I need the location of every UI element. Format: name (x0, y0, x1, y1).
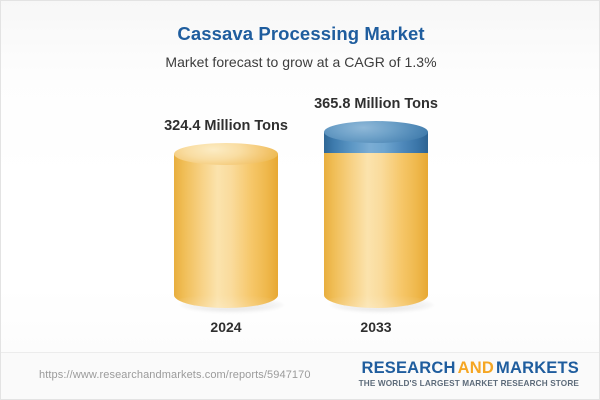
report-url[interactable]: https://www.researchandmarkets.com/repor… (39, 369, 311, 381)
category-label-2033: 2033 (288, 319, 464, 335)
bar-group-2033: 365.8 Million Tons 2033 (324, 1, 428, 400)
research-and-markets-logo: RESEARCHANDMARKETS THE WORLD'S LARGEST M… (359, 360, 579, 388)
cylinder-bar-2024 (174, 143, 278, 308)
logo-wordmark: RESEARCHANDMARKETS (359, 360, 579, 377)
logo-word-and: AND (458, 359, 494, 377)
logo-tagline: THE WORLD'S LARGEST MARKET RESEARCH STOR… (359, 379, 579, 388)
bar-top-cap-yellow-2024 (174, 143, 278, 165)
bar-bottom-rim (324, 295, 428, 309)
bar-top-cap-blue-2033 (324, 121, 428, 143)
logo-word-research: RESEARCH (361, 359, 455, 377)
bar-body-yellow-2033 (324, 153, 428, 308)
infographic-card: Cassava Processing Market Market forecas… (0, 0, 600, 400)
logo-word-markets: MARKETS (496, 359, 579, 377)
bar-body-yellow-2024 (174, 154, 278, 308)
bar-value-label-2024: 324.4 Million Tons (138, 118, 314, 134)
chart-plot-area: 324.4 Million Tons 2024 365.8 Million To… (1, 1, 600, 400)
footer-bar: https://www.researchandmarkets.com/repor… (1, 352, 599, 399)
bar-bottom-rim (174, 295, 278, 309)
bar-value-label-2033: 365.8 Million Tons (288, 96, 464, 112)
cylinder-bar-2033 (324, 121, 428, 308)
bar-group-2024: 324.4 Million Tons 2024 (174, 1, 278, 400)
